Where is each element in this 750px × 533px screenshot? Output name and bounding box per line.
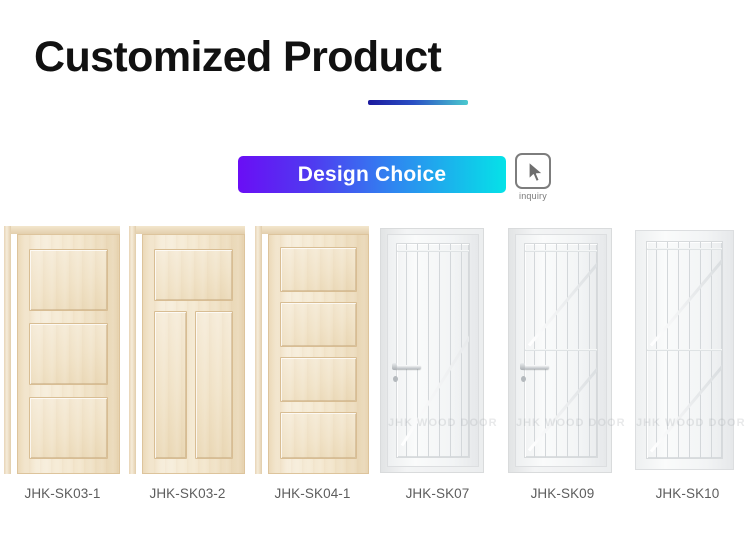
product-card[interactable]: JHK WOOD DOOR JHK-SK07: [375, 224, 500, 533]
door-keyhole: [521, 376, 526, 382]
product-label: JHK-SK03-1: [0, 486, 125, 501]
product-label: JHK-SK10: [625, 486, 750, 501]
product-image: JHK WOOD DOOR: [375, 224, 500, 477]
inquiry-button[interactable]: inquiry: [513, 153, 553, 201]
door-handle: [522, 365, 549, 369]
door-groove: [439, 244, 440, 457]
product-card[interactable]: JHK-SK04-1: [250, 224, 375, 533]
door-groove: [406, 244, 407, 457]
door-inner-panel: [646, 241, 723, 459]
door-diagonal-brace: [528, 254, 598, 346]
door-leaf: [17, 234, 120, 474]
product-card[interactable]: JHK WOOD DOOR JHK-SK09: [500, 224, 625, 533]
door-jamb: [4, 226, 11, 474]
door-handle-rose: [392, 363, 397, 370]
product-label: JHK-SK04-1: [250, 486, 375, 501]
door-panel: [280, 302, 357, 347]
door-leaf: JHK WOOD DOOR: [635, 230, 734, 470]
title-underline-accent: [368, 100, 468, 105]
door-leaf: [142, 234, 245, 474]
door-leaf: [268, 234, 369, 474]
product-image: [250, 224, 375, 477]
product-image: JHK WOOD DOOR: [500, 224, 625, 477]
door-panel: [29, 397, 108, 459]
door-jamb: [255, 226, 262, 474]
door-top-rail: [525, 250, 597, 252]
door-groove: [450, 244, 451, 457]
product-card[interactable]: JHK-SK03-2: [125, 224, 250, 533]
door-leaf: JHK WOOD DOOR: [387, 234, 479, 467]
product-image: [0, 224, 125, 477]
door-head-frame: [255, 226, 369, 234]
door-panel: [154, 311, 187, 459]
door-head-frame: [129, 226, 245, 234]
door-panel: [280, 357, 357, 402]
door-panel: [154, 249, 233, 301]
door-mid-rail: [525, 349, 597, 351]
design-choice-button[interactable]: Design Choice: [238, 156, 506, 193]
door-jamb: [129, 226, 136, 474]
product-grid: JHK-SK03-1 JHK-SK03-2: [0, 224, 750, 533]
door-top-rail: [647, 248, 722, 250]
product-image: JHK WOOD DOOR: [625, 224, 750, 477]
inquiry-icon-box: [515, 153, 551, 189]
door-groove: [428, 244, 429, 457]
product-label: JHK-SK07: [375, 486, 500, 501]
door-mid-rail: [647, 349, 722, 351]
door-head-frame: [4, 226, 120, 234]
door-top-rail: [397, 250, 469, 252]
door-handle-rose: [520, 363, 525, 370]
door-inner-panel: [524, 243, 598, 458]
door-diagonal-brace: [401, 256, 470, 446]
product-image: [125, 224, 250, 477]
door-keyhole: [393, 376, 398, 382]
door-groove: [417, 244, 418, 457]
door-panel: [195, 311, 233, 459]
product-label: JHK-SK09: [500, 486, 625, 501]
door-inner-panel: [396, 243, 470, 458]
door-diagonal-brace: [528, 359, 598, 451]
door-panel: [280, 412, 357, 459]
door-diagonal-brace: [650, 253, 723, 347]
door-leaf: JHK WOOD DOOR: [515, 234, 607, 467]
door-panel: [280, 247, 357, 292]
page-title: Customized Product: [34, 36, 441, 79]
product-card[interactable]: JHK-SK03-1: [0, 224, 125, 533]
door-diagonal-brace: [650, 359, 723, 453]
door-panel: [29, 249, 108, 311]
door-panel: [29, 323, 108, 385]
design-choice-label: Design Choice: [298, 163, 446, 187]
inquiry-label: inquiry: [513, 191, 553, 201]
door-handle: [394, 365, 421, 369]
product-card[interactable]: JHK WOOD DOOR JHK-SK10: [625, 224, 750, 533]
product-label: JHK-SK03-2: [125, 486, 250, 501]
